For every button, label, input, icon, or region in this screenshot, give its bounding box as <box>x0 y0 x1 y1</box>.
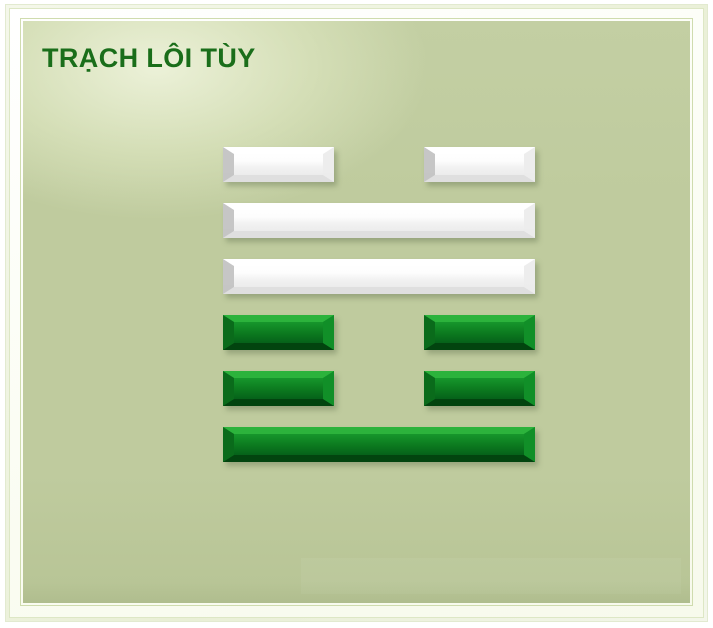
bevel-top <box>424 371 535 378</box>
hexagram-line-6 <box>201 147 513 182</box>
bevel-left <box>223 147 234 182</box>
hexagram-line-2 <box>201 371 513 406</box>
hexagram-line-4 <box>201 259 513 294</box>
poster-canvas: TRẠCH LÔI TÙY <box>0 0 713 628</box>
bevel-right <box>323 315 334 350</box>
bevel-bottom <box>223 455 535 462</box>
bevel-bottom <box>424 399 535 406</box>
bevel-bottom <box>424 175 535 182</box>
hexagram-diagram <box>201 147 513 462</box>
bevel-left <box>223 259 234 294</box>
bevel-left <box>223 371 234 406</box>
hexagram-line-4-solid-bar <box>223 259 535 294</box>
bevel-right <box>524 427 535 462</box>
background-bottom-shade <box>23 581 690 603</box>
bevel-left <box>223 203 234 238</box>
bevel-top <box>223 203 535 210</box>
bevel-right <box>323 371 334 406</box>
page-title: TRẠCH LÔI TÙY <box>42 43 256 74</box>
bevel-right <box>323 147 334 182</box>
bevel-top <box>223 147 334 154</box>
hexagram-line-2-right-segment <box>424 371 535 406</box>
bevel-bottom <box>223 231 535 238</box>
bevel-top <box>424 315 535 322</box>
bevel-bottom <box>223 175 334 182</box>
bevel-left <box>223 427 234 462</box>
bevel-bottom <box>223 287 535 294</box>
bevel-right <box>524 259 535 294</box>
bevel-top <box>223 371 334 378</box>
bevel-left <box>223 315 234 350</box>
bevel-right <box>524 203 535 238</box>
hexagram-line-1 <box>201 427 513 462</box>
bevel-bottom <box>223 399 334 406</box>
hexagram-line-5 <box>201 203 513 238</box>
content-stage: TRẠCH LÔI TÙY <box>23 21 690 603</box>
bevel-top <box>223 427 535 434</box>
bevel-right <box>524 371 535 406</box>
bevel-top <box>223 315 334 322</box>
hexagram-line-3-right-segment <box>424 315 535 350</box>
bevel-left <box>424 147 435 182</box>
bevel-bottom <box>223 343 334 350</box>
bevel-bottom <box>424 343 535 350</box>
hexagram-line-6-right-segment <box>424 147 535 182</box>
bevel-right <box>524 147 535 182</box>
bevel-right <box>524 315 535 350</box>
bevel-left <box>424 315 435 350</box>
bevel-top <box>223 259 535 266</box>
hexagram-line-3-left-segment <box>223 315 334 350</box>
hexagram-line-2-left-segment <box>223 371 334 406</box>
bevel-top <box>424 147 535 154</box>
hexagram-line-6-left-segment <box>223 147 334 182</box>
hexagram-line-1-solid-bar <box>223 427 535 462</box>
bevel-left <box>424 371 435 406</box>
hexagram-line-3 <box>201 315 513 350</box>
hexagram-line-5-solid-bar <box>223 203 535 238</box>
